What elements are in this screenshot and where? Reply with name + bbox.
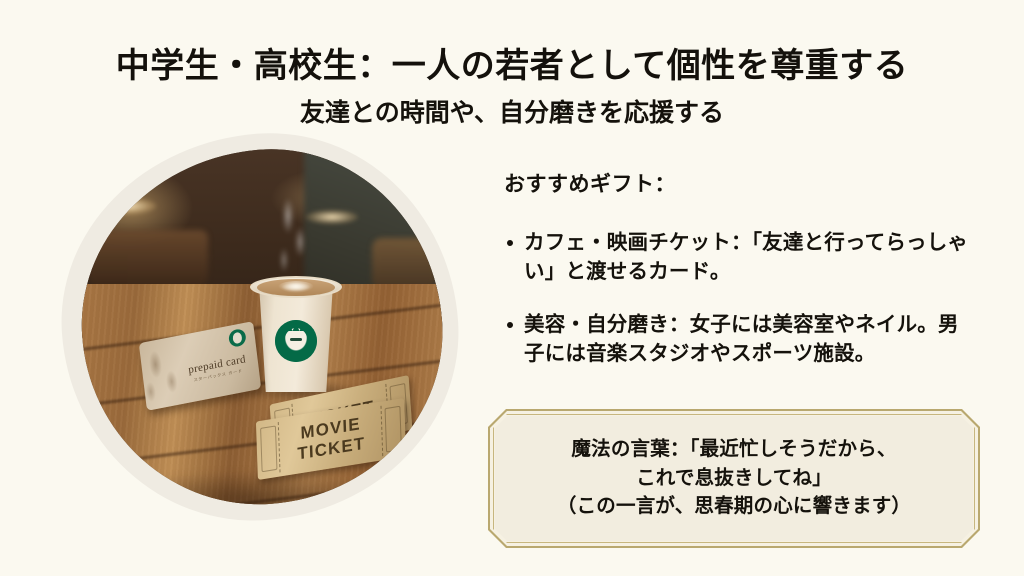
latte-art [278,281,314,293]
starbucks-cup [248,266,344,392]
magic-words-line-2: これで息抜きしてね」 [636,466,832,491]
list-item: 美容・自分磨き：女子には美容室やネイル。男子には音楽スタジオやスポーツ施設。 [500,310,970,368]
gift-bullet-list: カフェ・映画チケット：「友達と行ってらっしゃい」と渡せるカード。 美容・自分磨き… [500,228,970,392]
photo-scene: prepaid card スターバックス カード TICKET MOVI [70,138,454,516]
siren-crown [288,323,304,331]
magic-words-line-1: 魔法の言葉：「最近忙しそうだから、 [571,437,896,462]
siren-hair [277,326,315,360]
siren-eyes [290,338,302,341]
gift-photo: prepaid card スターバックス カード TICKET MOVI [62,134,458,520]
list-item: カフェ・映画チケット：「友達と行ってらっしゃい」と渡せるカード。 [500,228,970,286]
starbucks-siren-logo-icon [275,320,317,362]
cafe-stool [372,238,436,290]
recommended-gifts-heading: おすすめギフト： [504,168,676,198]
page-title: 中学生・高校生：一人の若者として個性を尊重する [0,38,1024,87]
slide-root: 中学生・高校生：一人の若者として個性を尊重する 友達との時間や、自分磨きを応援す… [0,0,1024,576]
page-subtitle: 友達との時間や、自分磨きを応援する [0,93,1024,129]
cafe-chair [88,230,208,290]
magic-words-text: 魔法の言葉：「最近忙しそうだから、 これで息抜きしてね」 （この一言が、思春期の… [488,409,980,548]
cafe-lamp-left-icon [98,198,156,214]
photo-blob-mask: prepaid card スターバックス カード TICKET MOVI [70,138,454,516]
magic-words-line-3: （この一言が、思春期の心に響きます） [557,494,911,519]
card-siren-logo-icon [228,328,247,348]
magic-words-box: 魔法の言葉：「最近忙しそうだから、 これで息抜きしてね」 （この一言が、思春期の… [488,409,980,548]
